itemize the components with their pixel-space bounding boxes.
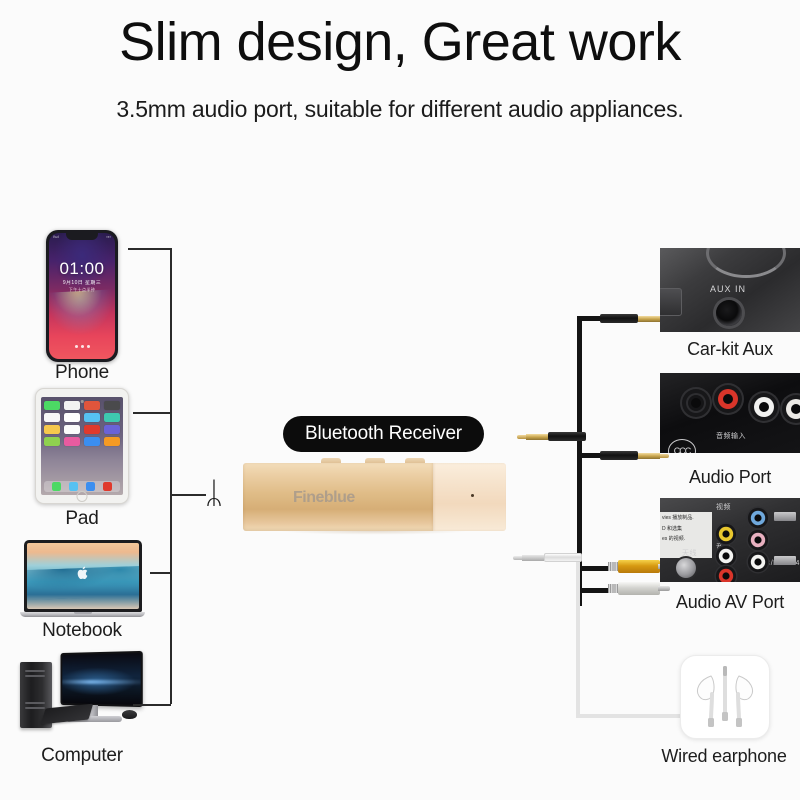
source-bracket-stub-bluetooth <box>170 494 206 496</box>
antenna-cn-label: 天线 <box>682 548 697 558</box>
antenna-connector-icon <box>676 558 696 578</box>
phone-lockscreen-subdate: 下午十点半钟 <box>49 287 115 293</box>
hdmi-port-1-icon <box>774 512 796 521</box>
source-bracket-stub-notebook <box>150 572 171 574</box>
desktop-computer-icon <box>18 648 148 734</box>
apple-logo-icon <box>76 566 89 581</box>
smartphone-icon: \\ul▪▪▪ 01:00 9月10日 星期三 下午十点半钟 <box>46 230 118 362</box>
source-bracket-stub-phone <box>128 248 171 250</box>
video-cn-label: 视频 <box>716 502 731 512</box>
output-label-av-port: Audio AV Port <box>630 592 800 613</box>
source-bracket-stub-computer <box>133 704 171 706</box>
source-device-notebook <box>20 540 145 617</box>
hdmi-port-2-icon <box>774 556 796 565</box>
source-label-pad: Pad <box>2 508 162 530</box>
product-badge: Bluetooth Receiver <box>283 416 484 452</box>
output-image-av-port: vies 播放制品.D 和选集es 的视频. 视频 音频 天线 PC/HDMI … <box>660 498 800 582</box>
source-label-computer: Computer <box>2 745 162 767</box>
source-device-computer <box>18 648 148 734</box>
car-aux-jack-icon <box>716 300 742 326</box>
brand-logo: Fineblue <box>293 489 355 507</box>
page-subtitle: 3.5mm audio port, suitable for different… <box>0 96 800 123</box>
phone-lockscreen-time: 01:00 <box>49 259 115 279</box>
earphone-cable-horizontal <box>576 714 686 718</box>
bluetooth-receiver-device: Fineblue <box>243 463 506 533</box>
car-aux-in-label: AUX IN <box>710 284 746 294</box>
page-title: Slim design, Great work <box>0 14 800 71</box>
earphone-cable-vertical <box>576 556 580 718</box>
phone-lockscreen-date: 9月10日 星期三 <box>49 279 115 286</box>
earphone-plug-3p5mm <box>512 553 582 562</box>
source-device-pad <box>35 388 129 504</box>
output-label-audio-port: Audio Port <box>630 467 800 488</box>
laptop-icon <box>20 540 145 617</box>
source-device-phone: \\ul▪▪▪ 01:00 9月10日 星期三 下午十点半钟 <box>46 230 118 362</box>
aux-plug-receiver <box>516 432 586 441</box>
source-label-phone: Phone <box>2 362 162 384</box>
output-image-car-aux: AUX IN <box>660 248 800 332</box>
tablet-icon <box>35 388 129 504</box>
output-image-audio-port: CCC 音频输入 <box>660 373 800 453</box>
source-label-notebook: Notebook <box>2 620 162 642</box>
audio-input-cn-label: 音频输入 <box>716 431 746 441</box>
status-led-icon <box>471 494 474 497</box>
output-label-car-aux: Car-kit Aux <box>630 339 800 360</box>
source-bracket-spine <box>170 248 172 704</box>
infographic-canvas: Slim design, Great work 3.5mm audio port… <box>0 0 800 800</box>
earbuds-icon <box>681 656 769 738</box>
output-image-earphone <box>680 655 770 739</box>
bluetooth-icon: ᛦ <box>205 479 223 509</box>
output-label-earphone: Wired earphone <box>624 746 800 767</box>
source-bracket-stub-pad <box>133 412 171 414</box>
ccc-certification-icon: CCC <box>668 439 696 453</box>
